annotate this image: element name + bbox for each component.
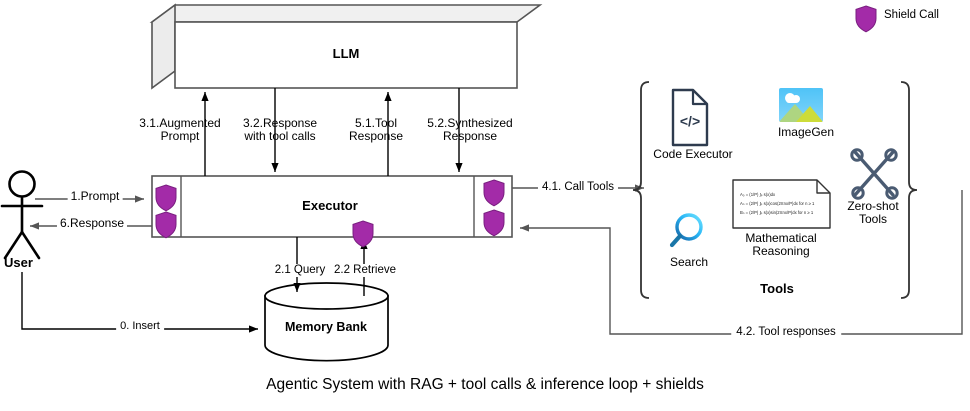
edge-synth-response-line1: 5.2.Synthesized: [427, 117, 512, 130]
tool-label-code-executor: Code Executor: [653, 148, 732, 161]
edge-insert-label: 0. Insert: [116, 320, 164, 332]
edge-tool-calls-label: 3.2.Response with tool calls: [243, 117, 317, 144]
tool-label-zero-shot-tools: Zero-shot Tools: [847, 200, 898, 227]
code-document-icon: </>: [673, 90, 707, 145]
diagram-caption: Agentic System with RAG + tool calls & i…: [266, 376, 704, 393]
edge-retrieve-label: 2.2 Retrieve: [332, 264, 398, 277]
tool-label-search: Search: [670, 256, 708, 269]
edge-synth-response-label: 5.2.Synthesized Response: [427, 117, 512, 144]
tool-label-math-reasoning: Mathematical Reasoning: [745, 232, 816, 259]
llm-label: LLM: [333, 47, 360, 62]
diagram-canvas: </> A₀ = (1/P) ∫ₚ s(x)dx Aₙ = (2/P) ∫ₚ s…: [0, 0, 970, 411]
image-gen-icon: [779, 88, 823, 122]
tools-group-label: Tools: [760, 282, 794, 297]
edge-augmented-prompt-line1: 3.1.Augmented: [139, 117, 220, 130]
magnifier-icon: [672, 215, 701, 245]
edge-tool-responses-label: 4.2. Tool responses: [731, 326, 841, 339]
formula-document-icon: A₀ = (1/P) ∫ₚ s(x)dx Aₙ = (2/P) ∫ₚ s(x)c…: [733, 180, 830, 228]
tools-bracket-left: [633, 82, 649, 298]
shield-legend-icon: [856, 6, 876, 32]
edge-tool-response-label: 5.1.Tool Response: [349, 117, 403, 144]
tool-label-zero-shot-line1: Zero-shot: [847, 200, 898, 213]
edge-call-tools-label: 4.1. Call Tools: [538, 181, 618, 194]
edge-prompt-label: 1.Prompt: [68, 190, 123, 203]
tool-label-math-line1: Mathematical: [745, 232, 816, 245]
tool-label-math-line2: Reasoning: [745, 245, 816, 258]
memory-bank-label: Memory Bank: [285, 320, 367, 334]
tool-label-imagegen: ImageGen: [778, 126, 834, 139]
math-line-0: A₀ = (1/P) ∫ₚ s(x)dx: [740, 192, 776, 197]
math-line-1: Aₙ = (2/P) ∫ₚ s(x)cos(2πnx/P)dx for n ≥ …: [740, 201, 815, 206]
edge-tool-calls-line1: 3.2.Response: [243, 117, 317, 130]
edge-augmented-prompt-label: 3.1.Augmented Prompt: [139, 117, 220, 144]
user-label: User: [4, 256, 33, 271]
executor-label: Executor: [302, 199, 358, 214]
edge-tool-calls-line2: with tool calls: [243, 130, 317, 143]
user-actor[interactable]: [2, 172, 42, 259]
edge-response-label: 6.Response: [57, 217, 127, 230]
tool-label-zero-shot-line2: Tools: [847, 213, 898, 226]
shield-executor-memory[interactable]: [353, 221, 373, 247]
edge-tool-response-line1: 5.1.Tool: [349, 117, 403, 130]
shield-legend-label: Shield Call: [884, 9, 939, 22]
edge-tool-response-line2: Response: [349, 130, 403, 143]
edge-query-label: 2.1 Query: [273, 264, 328, 277]
tools-bracket-right: [901, 82, 917, 298]
edge-synth-response-line2: Response: [427, 130, 512, 143]
math-line-2: Bₙ = (2/P) ∫ₚ s(x)sin(2πnx/P)dx for n ≥ …: [740, 210, 814, 215]
crossed-wrenches-icon: [852, 150, 897, 198]
edge-augmented-prompt-line2: Prompt: [139, 130, 220, 143]
svg-text:</>: </>: [680, 113, 700, 129]
